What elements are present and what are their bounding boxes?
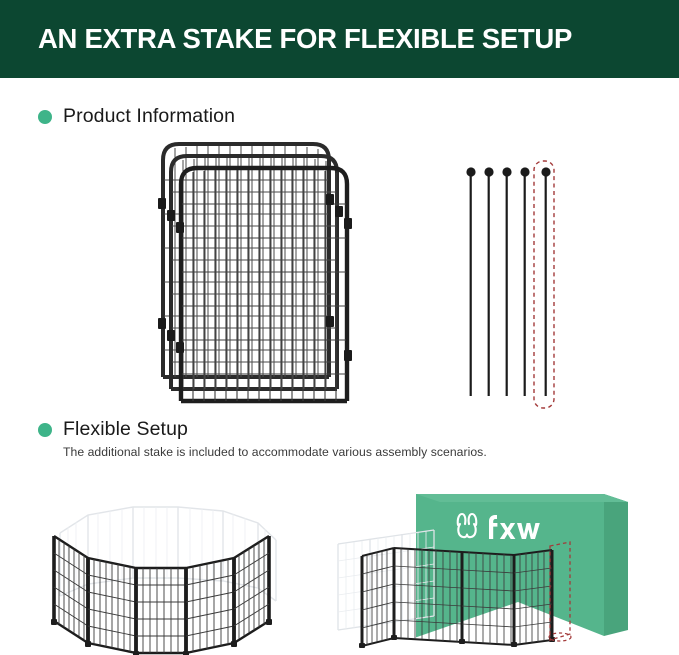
fence-panels-svg <box>155 132 390 407</box>
playpen-svg <box>18 488 328 655</box>
section-heading-product-information: Product Information <box>38 105 235 128</box>
section-heading-flexible-setup: Flexible Setup <box>38 418 188 441</box>
section-title-product-information: Product Information <box>63 105 235 128</box>
page-title: AN EXTRA STAKE FOR FLEXIBLE SETUP <box>38 22 658 56</box>
fence-against-wall-illustration <box>338 484 673 655</box>
playpen-front-panels <box>54 536 269 653</box>
ground-stakes-illustration <box>458 158 578 413</box>
stacked-fence-panels-illustration <box>155 132 390 407</box>
infographic-page: AN EXTRA STAKE FOR FLEXIBLE SETUP Produc… <box>0 0 679 655</box>
stake-5-highlighted <box>534 161 554 408</box>
bullet-dot-icon <box>38 423 52 437</box>
section-title-flexible-setup: Flexible Setup <box>63 418 188 441</box>
bullet-dot-icon <box>38 110 52 124</box>
stakes-svg <box>458 158 578 413</box>
foreground-fence-panels <box>359 548 555 648</box>
stake-1 <box>466 167 475 396</box>
octagonal-playpen-illustration <box>18 488 328 655</box>
stake-3 <box>502 167 511 396</box>
section-subtitle-flexible-setup: The additional stake is included to acco… <box>63 445 487 459</box>
wall-setup-svg <box>338 484 673 655</box>
stake-4 <box>520 167 529 396</box>
extra-stake-highlight-outline <box>534 161 554 408</box>
stake-2 <box>484 167 493 396</box>
